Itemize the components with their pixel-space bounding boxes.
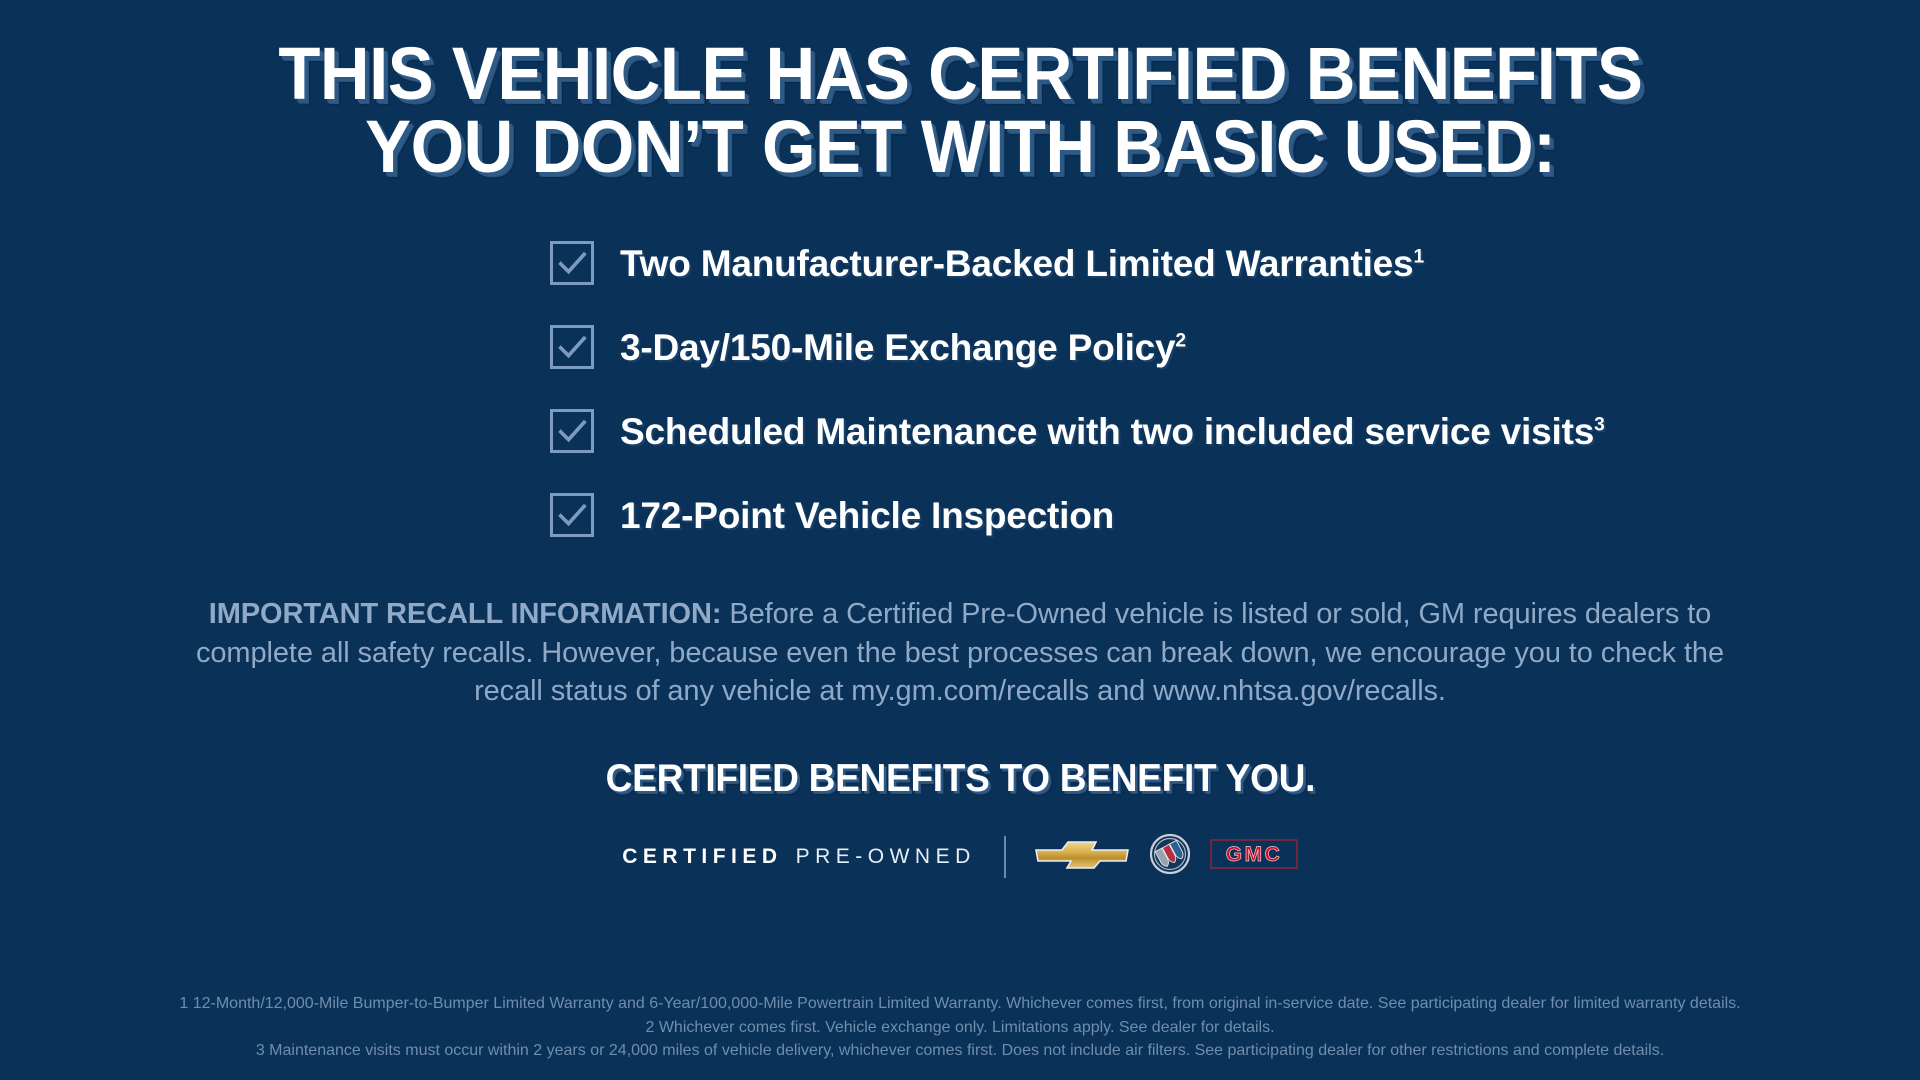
footnote-marker: 2 <box>1175 330 1186 351</box>
footnote-marker: 3 <box>1594 414 1605 435</box>
footnote-1: 1 12-Month/12,000-Mile Bumper-to-Bumper … <box>24 992 1896 1015</box>
benefits-list: Two Manufacturer-Backed Limited Warranti… <box>260 235 1660 543</box>
footnotes: 1 12-Month/12,000-Mile Bumper-to-Bumper … <box>0 992 1920 1062</box>
page-title: THIS VEHICLE HAS CERTIFIED BENEFITS YOU … <box>241 38 1679 183</box>
benefit-item: Two Manufacturer-Backed Limited Warranti… <box>550 235 1660 291</box>
cpo-preowned-word: PRE-OWNED <box>796 845 976 869</box>
footnote-2: 2 Whichever comes first. Vehicle exchang… <box>24 1016 1896 1039</box>
benefit-item: 3-Day/150-Mile Exchange Policy2 <box>550 319 1660 375</box>
benefit-label: Scheduled Maintenance with two included … <box>620 413 1605 450</box>
benefit-label: 3-Day/150-Mile Exchange Policy2 <box>620 329 1186 366</box>
gmc-wordmark: GMC <box>1226 843 1283 866</box>
lockup-divider <box>1004 836 1006 878</box>
benefit-label: 172-Point Vehicle Inspection <box>620 497 1114 534</box>
checkbox-checked-icon <box>550 493 594 537</box>
brand-marks: GMC <box>1034 834 1298 879</box>
chevrolet-bowtie-icon <box>1034 837 1130 876</box>
certified-benefits-slide: THIS VEHICLE HAS CERTIFIED BENEFITS YOU … <box>0 0 1920 1080</box>
footnote-marker: 1 <box>1413 246 1424 267</box>
benefit-item: Scheduled Maintenance with two included … <box>550 403 1660 459</box>
footnote-3: 3 Maintenance visits must occur within 2… <box>24 1039 1896 1062</box>
certified-pre-owned-wordmark: CERTIFIED PRE-OWNED <box>622 845 976 869</box>
recall-heading: IMPORTANT RECALL INFORMATION: <box>209 598 722 630</box>
recall-information-paragraph: IMPORTANT RECALL INFORMATION: Before a C… <box>180 595 1740 711</box>
headline-line-1: THIS VEHICLE HAS CERTIFIED BENEFITS <box>278 38 1642 111</box>
brand-lockup: CERTIFIED PRE-OWNED <box>622 835 1298 879</box>
tagline: CERTIFIED BENEFITS TO BENEFIT YOU. <box>605 757 1314 801</box>
headline-line-2: YOU DON’T GET WITH BASIC USED: <box>278 111 1642 184</box>
benefit-label: Two Manufacturer-Backed Limited Warranti… <box>620 245 1424 282</box>
checkbox-checked-icon <box>550 241 594 285</box>
checkbox-checked-icon <box>550 325 594 369</box>
cpo-certified-word: CERTIFIED <box>622 845 782 869</box>
buick-trishield-icon <box>1150 834 1190 879</box>
gmc-logo-icon: GMC <box>1210 839 1298 874</box>
benefit-item: 172-Point Vehicle Inspection <box>550 487 1660 543</box>
checkbox-checked-icon <box>550 409 594 453</box>
